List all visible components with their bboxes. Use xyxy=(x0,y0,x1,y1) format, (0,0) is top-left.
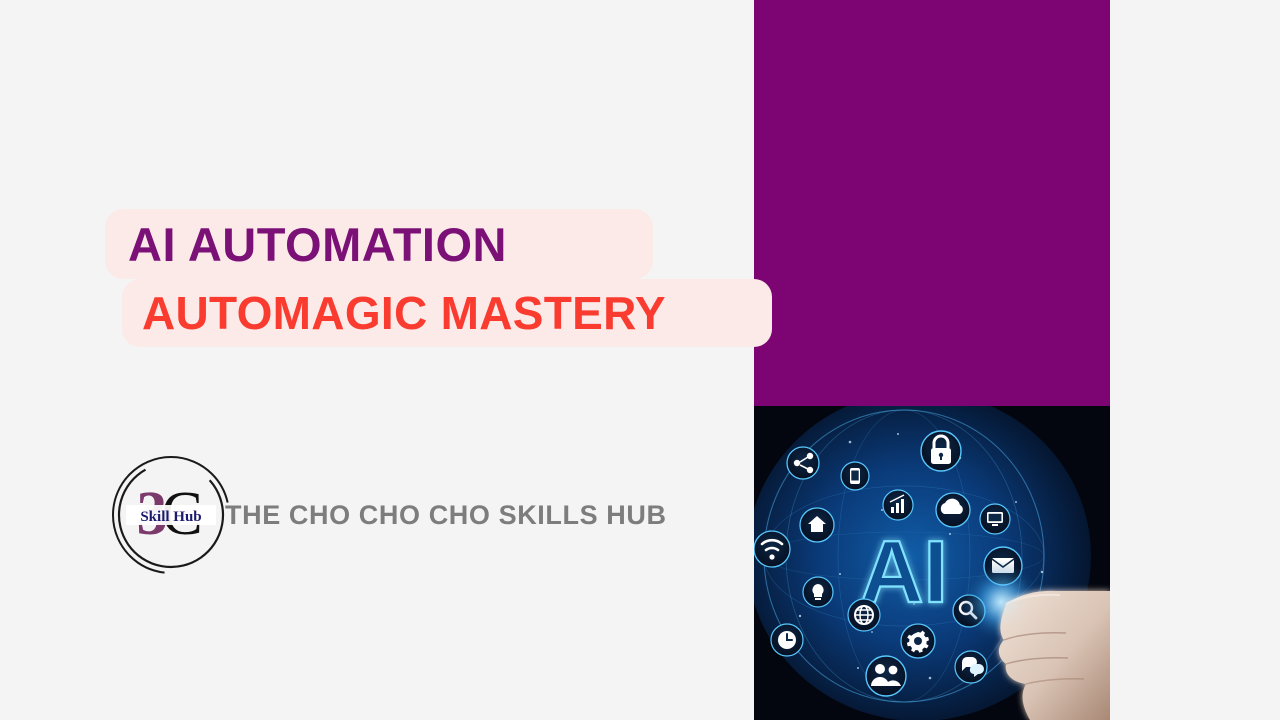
share-icon xyxy=(787,447,819,479)
headline-chip-secondary: AUTOMAGIC MASTERY xyxy=(122,279,772,347)
lock-icon xyxy=(921,431,961,471)
clock-icon xyxy=(771,624,803,656)
cloud-icon xyxy=(936,493,970,527)
logo-badge-text: Skill Hub xyxy=(140,509,201,525)
headline-line-2: AUTOMAGIC MASTERY xyxy=(142,290,666,336)
right-media-panel: AI xyxy=(754,0,1110,720)
brand-name: THE CHO CHO CHO SKILLS HUB xyxy=(225,502,667,529)
ai-photo-illustration: AI xyxy=(754,406,1110,720)
mobile-icon xyxy=(841,462,869,490)
monitor-icon xyxy=(980,504,1010,534)
logo-mark: 3 C Skill Hub xyxy=(108,452,234,578)
home-icon xyxy=(800,508,834,542)
gear-icon xyxy=(901,624,935,658)
wifi-icon xyxy=(754,531,790,567)
users-icon xyxy=(866,656,906,696)
chart-icon xyxy=(883,490,913,520)
logo-icon: 3 C Skill Hub xyxy=(108,452,234,578)
ai-photo: AI xyxy=(754,406,1110,720)
purple-color-block xyxy=(754,0,1110,406)
headline-chip-primary: AI AUTOMATION xyxy=(105,209,653,279)
slide-canvas: AI AUTOMATION AUTOMAGIC MASTERY 3 C Skil… xyxy=(0,0,1280,720)
lightbulb-icon xyxy=(803,577,833,607)
chat-icon xyxy=(955,651,987,683)
headline-line-1: AI AUTOMATION xyxy=(128,221,507,268)
brand-lockup: 3 C Skill Hub THE CHO CHO CHO SKILLS HUB xyxy=(108,452,708,578)
globe-icon xyxy=(848,599,880,631)
